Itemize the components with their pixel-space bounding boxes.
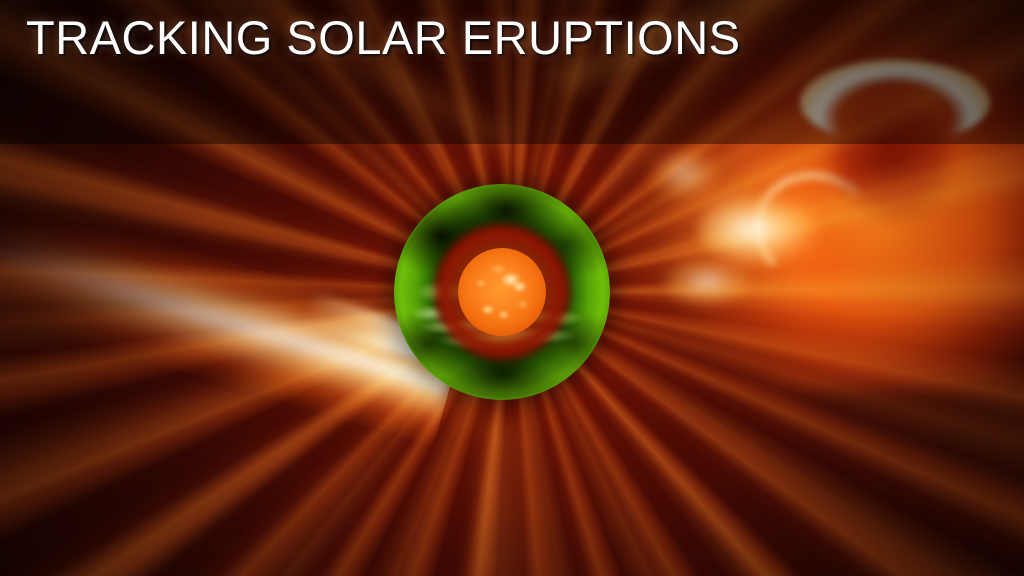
page-title: TRACKING SOLAR ERUPTIONS — [26, 14, 741, 61]
solar-eruption-image: TRACKING SOLAR ERUPTIONS — [0, 0, 1024, 576]
image-vignette — [0, 0, 1024, 576]
